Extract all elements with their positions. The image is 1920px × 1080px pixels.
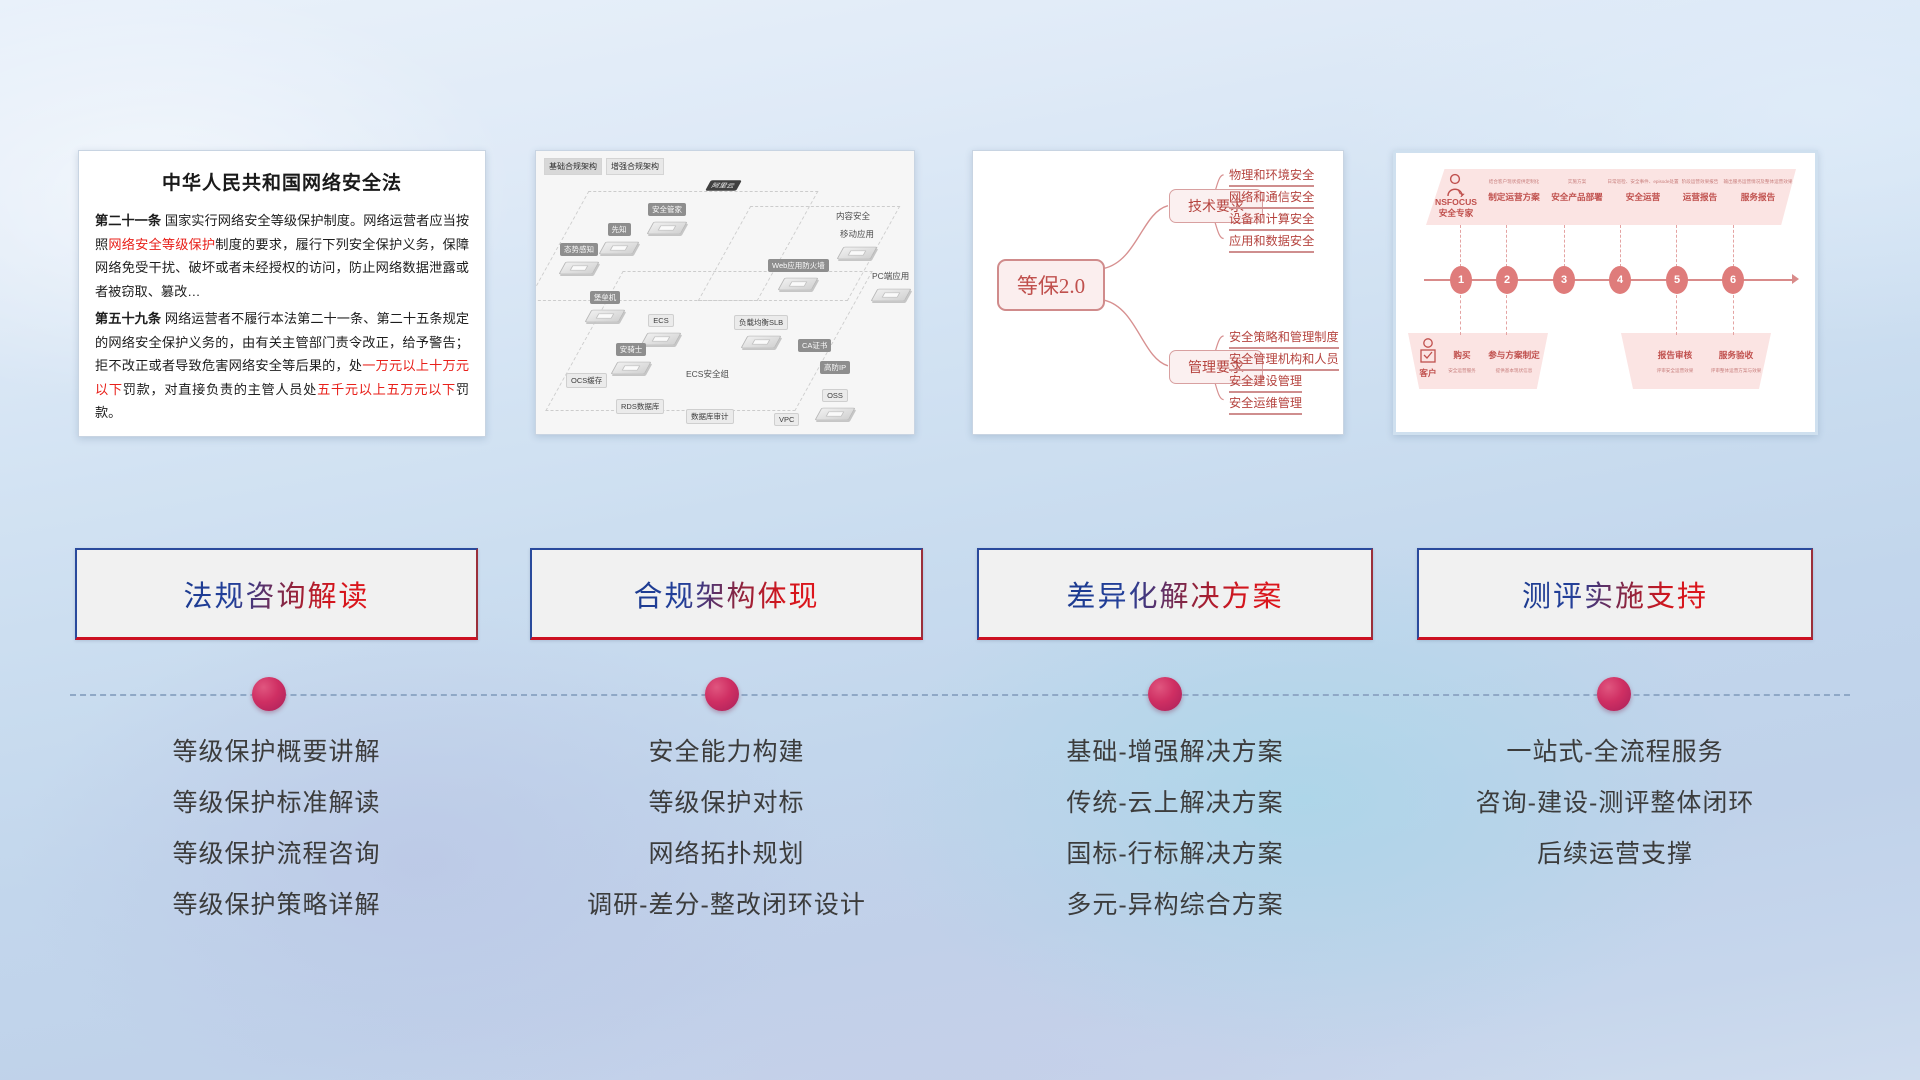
architecture-diagram: 基础合规架构 增强合规架构 阿里云 态势感知 先知 安全管家 堡垒机 [536,151,914,434]
top-step-5: 输出服务运营情况及整体运营效果 服务报告 [1706,179,1810,203]
title-box-4[interactable]: 测评实施支持 [1417,548,1813,640]
detail-list-4: 一站式-全流程服务 咨询-建设-测评整体闭环 后续运营支撑 [1417,740,1813,893]
top-step-sub: 输出服务运营情况及整体运营效果 [1706,179,1810,185]
bottom-step-head: 参与方案制定 [1478,349,1550,361]
device-icon [837,247,878,259]
detail-list-3: 基础-增强解决方案 传统-云上解决方案 国标-行标解决方案 多元-异构综合方案 [977,740,1373,944]
connector-dash [1733,295,1734,335]
node-label: 先知 [608,223,631,236]
bottom-step-3: 报告审核 评审安全运营效果 [1644,349,1706,374]
mindmap-leaf: 安全运维管理 [1229,393,1302,415]
detail-list-1: 等级保护概要讲解 等级保护标准解读 等级保护流程咨询 等级保护策略详解 [75,740,478,944]
list-item: 调研-差分-整改闭环设计 [530,893,923,918]
connector-dash [1460,295,1461,335]
node-label: 高防IP [820,361,850,374]
card-cybersecurity-law: 中华人民共和国网络安全法 第二十一条 国家实行网络安全等级保护制度。网络运营者应… [78,150,486,437]
title-box-2[interactable]: 合规架构体现 [530,548,923,640]
node-label: 堡垒机 [590,291,621,304]
law-article-59: 第五十九条 网络运营者不履行本法第二十一条、第二十五条规定的网络安全保护义务的，… [95,307,469,425]
timeline-node-5[interactable]: 5 [1666,266,1688,294]
rail-dot-4 [1597,677,1631,711]
law-article-21-label: 第二十一条 [95,213,161,228]
connector-dash [1620,225,1621,267]
timeline-node-1[interactable]: 1 [1450,266,1472,294]
card-service-process: NSFOCUS 安全专家 结合客户现状提供定制化 制定运营方案 实施方案 安全产… [1393,150,1818,435]
title-box-1[interactable]: 法规咨询解读 [75,548,478,640]
list-item: 咨询-建设-测评整体闭环 [1417,791,1813,816]
node-label: CA证书 [798,339,831,352]
law-article-21: 第二十一条 国家实行网络安全等级保护制度。网络运营者应当按照网络安全等级保护制度… [95,209,469,303]
node-vpc: VPC [774,413,799,428]
detail-list-2: 安全能力构建 等级保护对标 网络拓扑规划 调研-差分-整改闭环设计 [530,740,923,944]
server-icon [585,310,626,322]
top-step-head: 服务报告 [1706,191,1810,203]
node-label: OSS [822,389,848,402]
card-mindmap-dengbao: 等保2.0 技术要求 物理和环境安全 网络和通信安全 设备和计算安全 应用和数据… [972,150,1344,435]
label-cloud: 阿里云 [705,180,741,190]
node-label: 安骑士 [616,343,647,356]
server-icon [741,336,782,348]
tab-basic-architecture[interactable]: 基础合规架构 [544,158,602,175]
node-label: 移动应用 [836,227,878,241]
node-anqishi: 安骑士 [614,343,648,378]
node-label: 安全管家 [648,203,686,216]
law-article-59-highlight-2: 五千元以上五万元以下 [317,382,456,397]
server-icon [647,222,688,234]
node-label: 数据库审计 [686,409,734,424]
node-label: 内容安全 [832,209,874,223]
screenshot-cards-row: 中华人民共和国网络安全法 第二十一条 国家实行网络安全等级保护制度。网络运营者应… [0,150,1920,440]
node-ecs-security-group: ECS安全组 [682,367,733,383]
node-label: Web应用防火墙 [768,259,829,272]
node-anti-ddos-ip: 高防IP [820,361,850,376]
bottom-step-sub: 提供基本现状信息 [1478,368,1550,374]
bottom-step-sub: 评审整体运营方案与效果 [1700,368,1772,374]
timeline-rail [70,694,1850,696]
title-box-2-label: 合规架构体现 [633,573,819,615]
title-box-4-label: 测评实施支持 [1522,573,1708,615]
list-item: 等级保护流程咨询 [75,842,478,867]
mindmap-leaf: 安全建设管理 [1229,371,1302,393]
mindmap-leaf: 设备和计算安全 [1229,209,1314,231]
server-icon [599,242,640,254]
bottom-step-sub: 评审安全运营效果 [1644,368,1706,374]
node-situational-awareness: 态势感知 [560,243,598,278]
provider-name-line2: 安全专家 [1426,207,1486,219]
node-label: ECS [648,314,673,327]
timeline-node-3[interactable]: 3 [1553,266,1575,294]
provider-actor-name: NSFOCUS 安全专家 [1426,197,1486,219]
node-ocs-cache: OCS缓存 [566,373,607,390]
list-item: 传统-云上解决方案 [977,791,1373,816]
tab-enhanced-architecture[interactable]: 增强合规架构 [606,158,664,175]
node-waf: Web应用防火墙 [768,259,829,294]
node-label: OCS缓存 [566,373,607,388]
node-db-audit: 数据库审计 [686,409,734,426]
mindmap-root-node[interactable]: 等保2.0 [997,259,1105,311]
law-article-59-mid: 罚款，对直接负责的主管人员处 [123,382,317,397]
connector-dash [1676,225,1677,267]
connector-dash [1564,225,1565,267]
node-content-security: 内容安全 [832,209,874,225]
timeline-node-4[interactable]: 4 [1609,266,1631,294]
list-item: 多元-异构综合方案 [977,893,1373,918]
node-xianzhi: 先知 [602,223,636,258]
server-icon [815,408,856,420]
title-box-1-label: 法规咨询解读 [183,573,369,615]
section-title-boxes: 法规咨询解读 合规架构体现 差异化解决方案 测评实施支持 [0,548,1920,648]
node-label: 态势感知 [560,243,598,256]
timeline-arrow-icon [1792,274,1799,284]
bottom-step-head: 服务验收 [1700,349,1772,361]
timeline-node-2[interactable]: 2 [1496,266,1518,294]
list-item: 等级保护标准解读 [75,791,478,816]
list-item: 网络拓扑规划 [530,842,923,867]
rail-dot-2 [705,677,739,711]
timeline-node-6[interactable]: 6 [1722,266,1744,294]
node-mobile-app: 移动应用 [836,227,878,263]
mindmap: 等保2.0 技术要求 物理和环境安全 网络和通信安全 设备和计算安全 应用和数据… [973,151,1343,434]
list-item: 安全能力构建 [530,740,923,765]
node-label: RDS数据库 [616,399,664,414]
mindmap-leaf: 网络和通信安全 [1229,187,1314,209]
server-icon [611,362,652,374]
bottom-step-head: 报告审核 [1644,349,1706,361]
rail-dot-1 [252,677,286,711]
node-security-butler: 安全管家 [648,203,686,238]
mindmap-leaf: 物理和环境安全 [1229,165,1314,187]
list-item: 一站式-全流程服务 [1417,740,1813,765]
node-label: VPC [774,413,799,426]
card-compliance-architecture: 基础合规架构 增强合规架构 阿里云 态势感知 先知 安全管家 堡垒机 [535,150,915,435]
server-icon [559,262,600,274]
detail-lists-row: 等级保护概要讲解 等级保护标准解读 等级保护流程咨询 等级保护策略详解 安全能力… [0,740,1920,1000]
connector-dash [1733,225,1734,267]
title-box-3-label: 差异化解决方案 [1066,573,1283,615]
mindmap-leaf: 安全管理机构和人员 [1229,349,1339,371]
list-item: 基础-增强解决方案 [977,740,1373,765]
node-label: 负载均衡SLB [734,315,788,330]
law-body: 第二十一条 国家实行网络安全等级保护制度。网络运营者应当按照网络安全等级保护制度… [79,195,485,425]
list-item: 后续运营支撑 [1417,842,1813,867]
node-slb: 负载均衡SLB [734,315,788,352]
list-item: 等级保护概要讲解 [75,740,478,765]
node-ca-certificate: CA证书 [798,339,831,354]
server-icon [778,278,819,290]
title-box-3[interactable]: 差异化解决方案 [977,548,1373,640]
node-pc-app: PC端应用 [868,269,913,305]
device-icon [870,289,911,301]
node-oss: OSS [818,389,852,424]
list-item: 等级保护对标 [530,791,923,816]
node-label: PC端应用 [868,269,913,283]
rail-dot-3 [1148,677,1182,711]
node-rds-database: RDS数据库 [616,399,664,416]
architecture-tabs: 基础合规架构 增强合规架构 [544,158,664,175]
bottom-step-4: 服务验收 评审整体运营方案与效果 [1700,349,1772,374]
connector-dash [1506,225,1507,267]
process-timeline: NSFOCUS 安全专家 结合客户现状提供定制化 制定运营方案 实施方案 安全产… [1396,153,1815,432]
law-article-59-label: 第五十九条 [95,311,161,326]
node-bastion-host: 堡垒机 [588,291,622,326]
law-article-21-highlight: 网络安全等级保护 [108,237,215,252]
provider-name-line1: NSFOCUS [1426,197,1486,207]
bottom-step-2: 参与方案制定 提供基本现状信息 [1478,349,1550,374]
node-ecs: ECS [644,314,678,349]
connector-dash [1676,295,1677,335]
connector-dash [1506,295,1507,335]
node-label: ECS安全组 [682,367,733,381]
list-item: 国标-行标解决方案 [977,842,1373,867]
law-title: 中华人民共和国网络安全法 [79,168,485,195]
mindmap-leaf: 应用和数据安全 [1229,231,1314,253]
mindmap-leaf: 安全策略和管理制度 [1229,327,1339,349]
list-item: 等级保护策略详解 [75,893,478,918]
connector-dash [1460,225,1461,267]
